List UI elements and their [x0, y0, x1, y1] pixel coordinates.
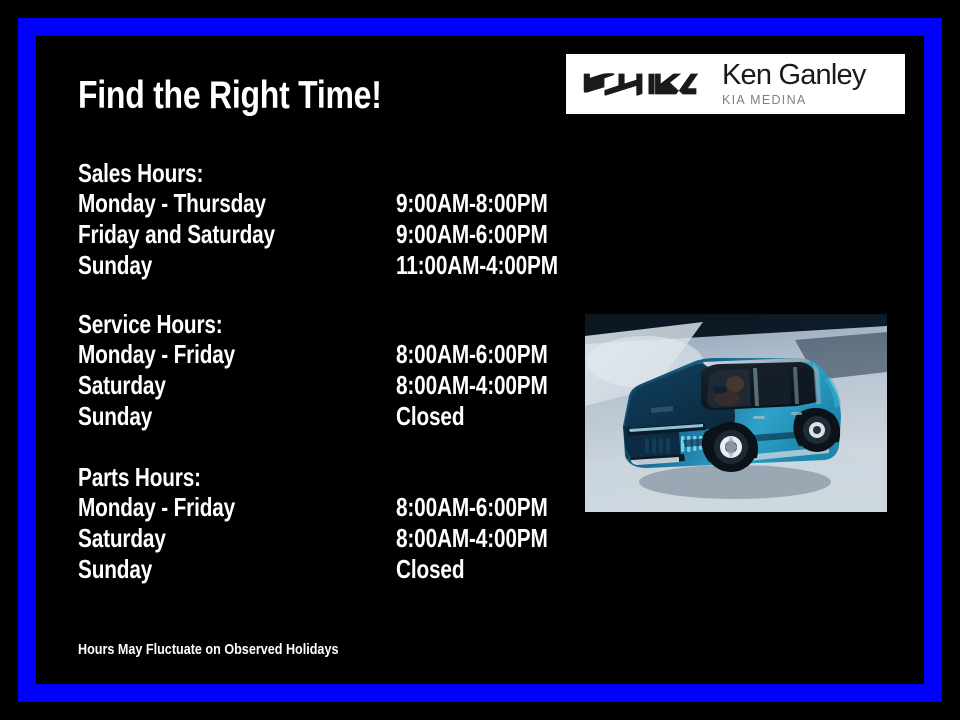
time-value: 11:00AM-4:00PM	[396, 250, 558, 281]
hours-row: Monday - Friday 8:00AM-6:00PM	[78, 492, 232, 523]
vehicle-photo	[585, 314, 887, 512]
hours-row: Sunday 11:00AM-4:00PM	[78, 250, 235, 281]
day-label: Saturday	[78, 523, 166, 554]
hours-section-service: Service Hours: Monday - Friday 8:00AM-6:…	[78, 309, 259, 431]
page-title: Find the Right Time!	[78, 76, 382, 117]
hours-section-sales: Sales Hours: Monday - Thursday 9:00AM-8:…	[78, 158, 235, 280]
hours-row: Sunday Closed	[78, 554, 232, 585]
time-value: 8:00AM-4:00PM	[396, 523, 548, 554]
hours-row: Monday - Friday 8:00AM-6:00PM	[78, 339, 259, 370]
dealer-name: Ken Ganley	[722, 61, 866, 90]
day-label: Monday - Friday	[78, 339, 235, 370]
day-label: Sunday	[78, 554, 152, 585]
section-heading-service: Service Hours:	[78, 309, 223, 339]
dealer-name-group: Ken Ganley KIA MEDINA	[722, 61, 866, 107]
time-value: 8:00AM-6:00PM	[396, 492, 548, 523]
kia-logo-icon	[580, 67, 702, 101]
hours-row: Monday - Thursday 9:00AM-8:00PM	[78, 188, 235, 219]
time-value: 8:00AM-6:00PM	[396, 339, 548, 370]
hours-row: Friday and Saturday 9:00AM-6:00PM	[78, 219, 235, 250]
day-label: Saturday	[78, 370, 166, 401]
dealer-subtitle: KIA MEDINA	[722, 93, 866, 107]
hours-row: Sunday Closed	[78, 401, 259, 432]
holiday-disclaimer: Hours May Fluctuate on Observed Holidays	[78, 641, 338, 658]
day-label: Sunday	[78, 401, 152, 432]
hours-row: Saturday 8:00AM-4:00PM	[78, 523, 232, 554]
day-label: Monday - Friday	[78, 492, 235, 523]
day-label: Friday and Saturday	[78, 219, 275, 250]
day-label: Monday - Thursday	[78, 188, 266, 219]
hours-row: Saturday 8:00AM-4:00PM	[78, 370, 259, 401]
time-value: 8:00AM-4:00PM	[396, 370, 548, 401]
dealer-logo-panel: Ken Ganley KIA MEDINA	[566, 54, 905, 114]
section-heading-parts: Parts Hours:	[78, 462, 201, 492]
time-value: Closed	[396, 554, 464, 585]
kia-ev9-suv-illustration	[585, 314, 887, 512]
hours-section-parts: Parts Hours: Monday - Friday 8:00AM-6:00…	[78, 462, 232, 584]
slide-canvas: Find the Right Time! Sales Hours: Monday…	[0, 0, 960, 720]
day-label: Sunday	[78, 250, 152, 281]
time-value: 9:00AM-8:00PM	[396, 188, 548, 219]
time-value: 9:00AM-6:00PM	[396, 219, 548, 250]
section-heading-sales: Sales Hours:	[78, 158, 203, 188]
time-value: Closed	[396, 401, 464, 432]
hours-slide: Find the Right Time! Sales Hours: Monday…	[0, 0, 960, 720]
